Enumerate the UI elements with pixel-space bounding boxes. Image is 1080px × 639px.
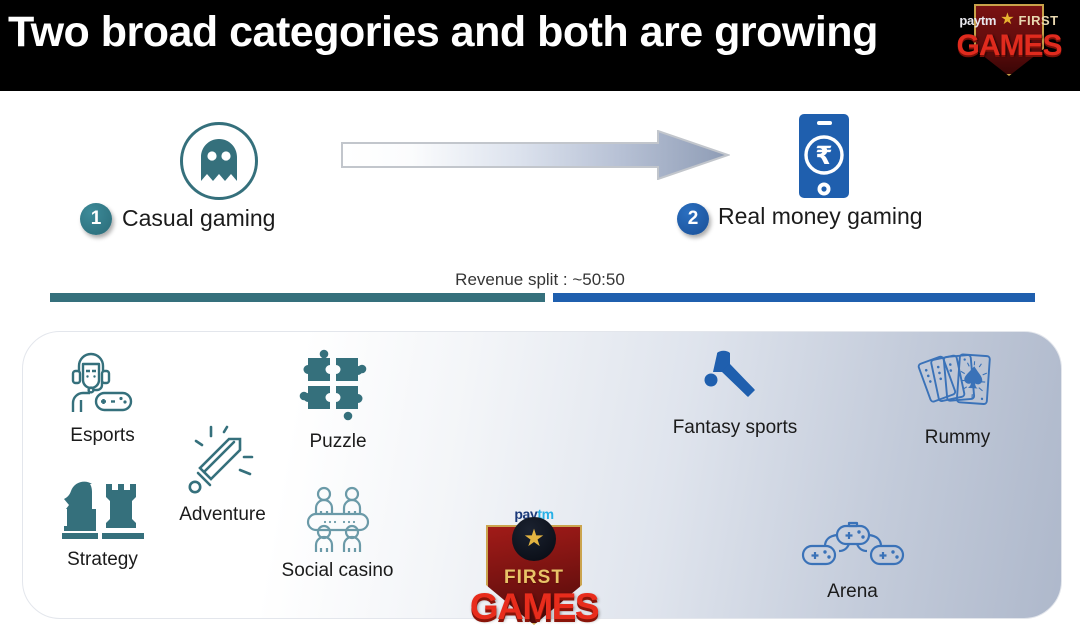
tile-label: Arena [790, 581, 915, 603]
category-badge-2: 2 [677, 203, 709, 235]
tile-label: Puzzle [283, 431, 393, 453]
paytm-wordmark: paytm [959, 13, 996, 28]
paytm-first-games-logo-header: paytm ★ FIRST GAMES [948, 2, 1070, 82]
logo-top-row: paytm ★ FIRST [948, 12, 1070, 28]
revenue-bar-casual [50, 293, 545, 302]
games-wordmark: GAMES [464, 586, 604, 628]
category-label-casual-gaming: Casual gaming [122, 205, 275, 232]
tile-rummy[interactable]: Rummy [900, 348, 1015, 449]
tile-label: Strategy [40, 549, 165, 571]
tile-fantasy-sports[interactable]: Fantasy sports [655, 350, 815, 439]
playing-cards-icon [900, 348, 1015, 425]
revenue-bar-rmg [553, 293, 1035, 302]
chess-pieces-icon [40, 478, 165, 547]
tile-social-casino[interactable]: Social casino [270, 485, 405, 582]
first-wordmark: FIRST [1019, 13, 1059, 28]
category-label-real-money-gaming: Real money gaming [718, 203, 923, 230]
star-badge: ★ [512, 517, 556, 561]
mobile-rupee-icon: ₹ [795, 112, 853, 205]
header-bar: Two broad categories and both are growin… [0, 0, 1080, 88]
revenue-split-label: Revenue split : ~50:50 [0, 270, 1080, 290]
cricket-bat-ball-icon [655, 350, 815, 415]
star-icon: ★ [523, 527, 545, 551]
category-badge-1: 1 [80, 203, 112, 235]
tile-puzzle[interactable]: Puzzle [283, 348, 393, 453]
games-wordmark: GAMES [948, 29, 1070, 63]
paytm-first-games-logo-center: paytm ★ FIRST GAMES [470, 498, 598, 639]
people-table-icon [270, 485, 405, 558]
svg-text:₹: ₹ [815, 141, 832, 170]
page-title: Two broad categories and both are growin… [8, 8, 878, 57]
ghost-icon [180, 122, 258, 200]
right-arrow-icon [340, 130, 730, 180]
gamer-headset-icon [40, 348, 165, 423]
tile-esports[interactable]: Esports [40, 348, 165, 447]
star-icon: ★ [1000, 12, 1014, 28]
tile-arena[interactable]: Arena [790, 518, 915, 603]
tile-label: Rummy [900, 427, 1015, 449]
tile-label: Esports [40, 425, 165, 447]
tile-label: Social casino [270, 560, 405, 582]
tile-label: Fantasy sports [655, 417, 815, 439]
jigsaw-icon [283, 348, 393, 429]
tile-strategy[interactable]: Strategy [40, 478, 165, 571]
three-controllers-icon [790, 518, 915, 579]
header-divider [0, 88, 1080, 91]
